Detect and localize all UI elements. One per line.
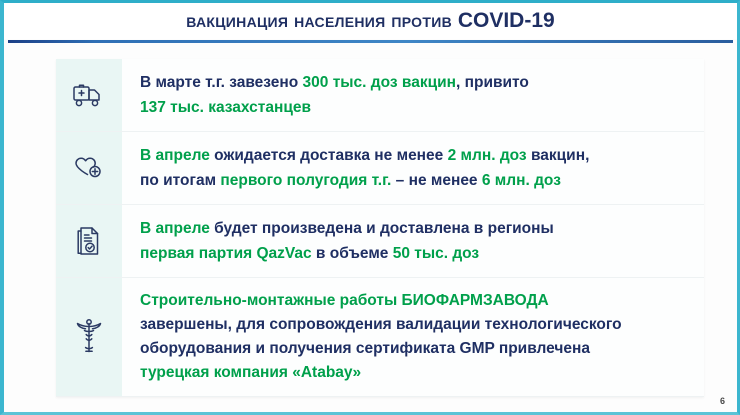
highlight-text: 137 тыс. казахстанцев [140,99,311,116]
title-underline-rule [8,40,733,43]
bullet-text: Строительно-монтажные работы БИОФАРМЗАВО… [122,278,704,396]
highlight-text: 2 млн. доз [448,147,527,164]
document-check-icon [56,205,122,277]
bullet-row: Строительно-монтажные работы БИОФАРМЗАВО… [56,278,704,397]
slide-title-bar: Вакцинация населения против COVID-19 [4,3,737,39]
body-text: ожидается доставка не менее [210,147,448,164]
bullet-line: оборудования и получения сертификата GMP… [140,337,692,361]
highlight-text: Строительно-монтажные работы БИОФАРМЗАВО… [140,292,549,309]
body-text: – не менее [391,172,482,189]
bullet-line: по итогам первого полугодия т.г. – не ме… [140,168,692,193]
bullet-row: В марте т.г. завезено 300 тыс. доз вакци… [56,59,704,132]
bullet-line: В апреле будет произведена и доставлена … [140,216,692,241]
highlight-text: В апреле [140,220,210,237]
body-text: , привито [456,74,529,91]
bullet-line: В марте т.г. завезено 300 тыс. доз вакци… [140,70,692,95]
bullet-line: Строительно-монтажные работы БИОФАРМЗАВО… [140,289,692,313]
bullet-row: В апреле будет произведена и доставлена … [56,205,704,278]
bullet-text: В марте т.г. завезено 300 тыс. доз вакци… [122,59,704,131]
page-title-main: Вакцинация населения против [186,10,458,32]
highlight-text: 6 млн. доз [482,172,561,189]
bullet-card: В марте т.г. завезено 300 тыс. доз вакци… [56,59,704,397]
bullet-line: 137 тыс. казахстанцев [140,95,692,120]
bullet-row: В апреле ожидается доставка не менее 2 м… [56,132,704,205]
body-text: оборудования и получения сертификата GMP… [140,340,590,357]
page-number: 6 [720,396,725,406]
caduceus-icon [56,278,122,396]
highlight-text: 50 тыс. доз [393,245,479,262]
bullet-line: турецкая компания «Atabay» [140,361,692,385]
body-text: в объеме [312,245,393,262]
bullet-text: В апреле будет произведена и доставлена … [122,205,704,277]
body-text: по итогам [140,172,220,189]
ambulance-icon [56,59,122,131]
body-text: , для сопровождения валидации технологич… [228,316,622,333]
body-text: завершены [140,316,228,333]
heart-plus-icon [56,132,122,204]
highlight-text: первая партия QazVac [140,245,312,262]
page-title: Вакцинация населения против COVID-19 [186,9,554,33]
body-text: будет произведена и доставлена в регионы [210,220,554,237]
highlight-text: турецкая компания «Atabay» [140,364,361,381]
bullet-text: В апреле ожидается доставка не менее 2 м… [122,132,704,204]
body-text: вакцин, [527,147,590,164]
highlight-text: 300 тыс. доз вакцин [303,74,456,91]
page-title-emphasis: COVID-19 [458,9,555,32]
bullet-line: В апреле ожидается доставка не менее 2 м… [140,143,692,168]
highlight-text: первого полугодия т.г. [220,172,391,189]
bullet-line: завершены, для сопровождения валидации т… [140,313,692,337]
body-text: В марте т.г. завезено [140,74,303,91]
highlight-text: В апреле [140,147,210,164]
slide-canvas: Вакцинация населения против COVID-19 В м… [0,0,740,415]
bullet-line: первая партия QazVac в объеме 50 тыс. до… [140,241,692,266]
